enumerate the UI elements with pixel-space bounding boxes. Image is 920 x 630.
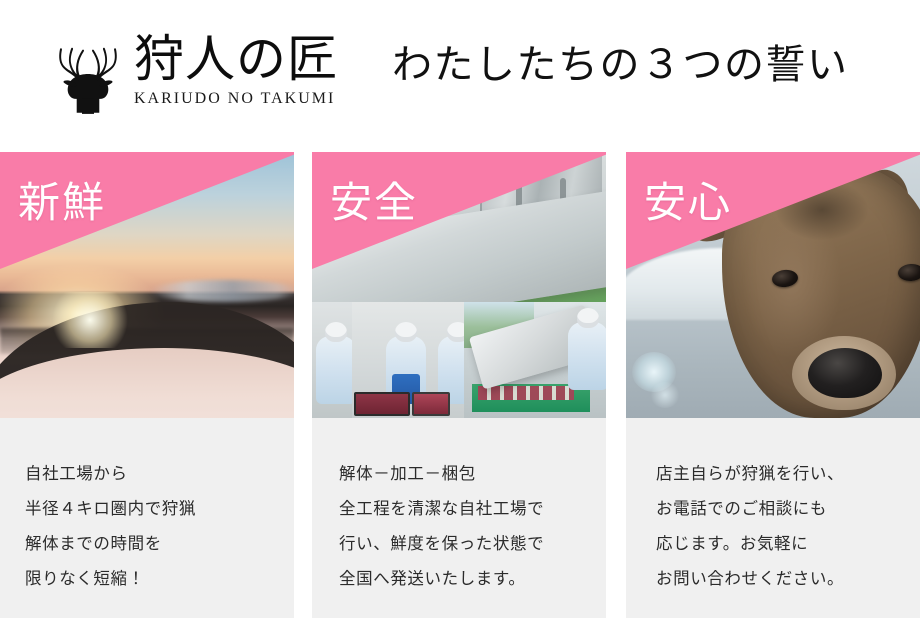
pledge-card-fresh[interactable]: 新鮮 自社工場から 半径４キロ圏内で狩猟 解体までの時間を 限りなく短縮！	[0, 152, 294, 618]
bokeh-light	[650, 382, 680, 408]
card-image-deer: 安心	[626, 152, 920, 418]
cloud-band	[150, 280, 294, 302]
card-text-line: 応じます。お気軽に	[656, 526, 904, 561]
brand-lockup[interactable]: 狩人の匠 KARIUDO NO TAKUMI	[38, 24, 348, 124]
deer-closeup-photo	[626, 152, 920, 418]
card-text-block: 店主自らが狩猟を行い、 お電話でのご相談にも 応じます。お気軽に お問い合わせく…	[626, 418, 920, 618]
collage-cell-left	[312, 302, 352, 418]
pledge-card-list: 新鮮 自社工場から 半径４キロ圏内で狩猟 解体までの時間を 限りなく短縮！	[0, 152, 920, 618]
card-text-line: 限りなく短縮！	[25, 561, 278, 596]
pledge-card-safety[interactable]: 安全 解体－加工－梱包 全工程を清潔な自社工場で 行い、鮮度を保った状態で 全国…	[312, 152, 606, 618]
card-text-line: 全国へ発送いたします。	[339, 561, 590, 596]
promo-page: 狩人の匠 KARIUDO NO TAKUMI わたしたちの３つの誓い 新鮮	[0, 0, 920, 630]
meat-tray	[354, 392, 410, 416]
card-text-block: 自社工場から 半径４キロ圏内で狩猟 解体までの時間を 限りなく短縮！	[0, 418, 294, 618]
card-text-line: 行い、鮮度を保った状態で	[339, 526, 590, 561]
page-header: 狩人の匠 KARIUDO NO TAKUMI わたしたちの３つの誓い	[0, 0, 920, 152]
card-text-line: 店主自らが狩猟を行い、	[656, 456, 904, 491]
brand-wordmark: 狩人の匠 KARIUDO NO TAKUMI	[134, 28, 350, 110]
packed-meat-row	[478, 386, 574, 400]
photo-collage-strip	[312, 302, 606, 418]
card-text-line: 全工程を清潔な自社工場で	[339, 491, 590, 526]
card-text-line: 半径４キロ圏内で狩猟	[25, 491, 278, 526]
card-text-line: 自社工場から	[25, 456, 278, 491]
card-image-winter-sunrise: 新鮮	[0, 152, 294, 418]
card-text-line: お問い合わせください。	[656, 561, 904, 596]
card-text-block: 解体－加工－梱包 全工程を清潔な自社工場で 行い、鮮度を保った状態で 全国へ発送…	[312, 418, 606, 618]
factory-collage-photo	[312, 152, 606, 418]
brand-name-en: KARIUDO NO TAKUMI	[134, 88, 350, 110]
collage-cell-right	[464, 302, 606, 418]
card-text-line: お電話でのご相談にも	[656, 491, 904, 526]
card-text-line: 解体－加工－梱包	[339, 456, 590, 491]
collage-cell-middle	[352, 302, 464, 418]
pledge-card-reassurance[interactable]: 安心 店主自らが狩猟を行い、 お電話でのご相談にも 応じます。お気軽に お問い合…	[626, 152, 920, 618]
page-title: わたしたちの３つの誓い	[392, 38, 849, 92]
worker-figure	[568, 322, 606, 390]
card-text-line: 解体までの時間を	[25, 526, 278, 561]
deer-nose	[808, 348, 882, 398]
sun-glow	[48, 292, 132, 348]
brand-name-ja: 狩人の匠	[134, 28, 350, 90]
deer-forehead-shading	[776, 180, 868, 240]
deer-head-antlers-icon	[42, 26, 134, 118]
winter-sunrise-photo	[0, 152, 294, 418]
worker-figure	[316, 336, 352, 404]
meat-tray	[412, 392, 450, 416]
card-image-factory: 安全	[312, 152, 606, 418]
